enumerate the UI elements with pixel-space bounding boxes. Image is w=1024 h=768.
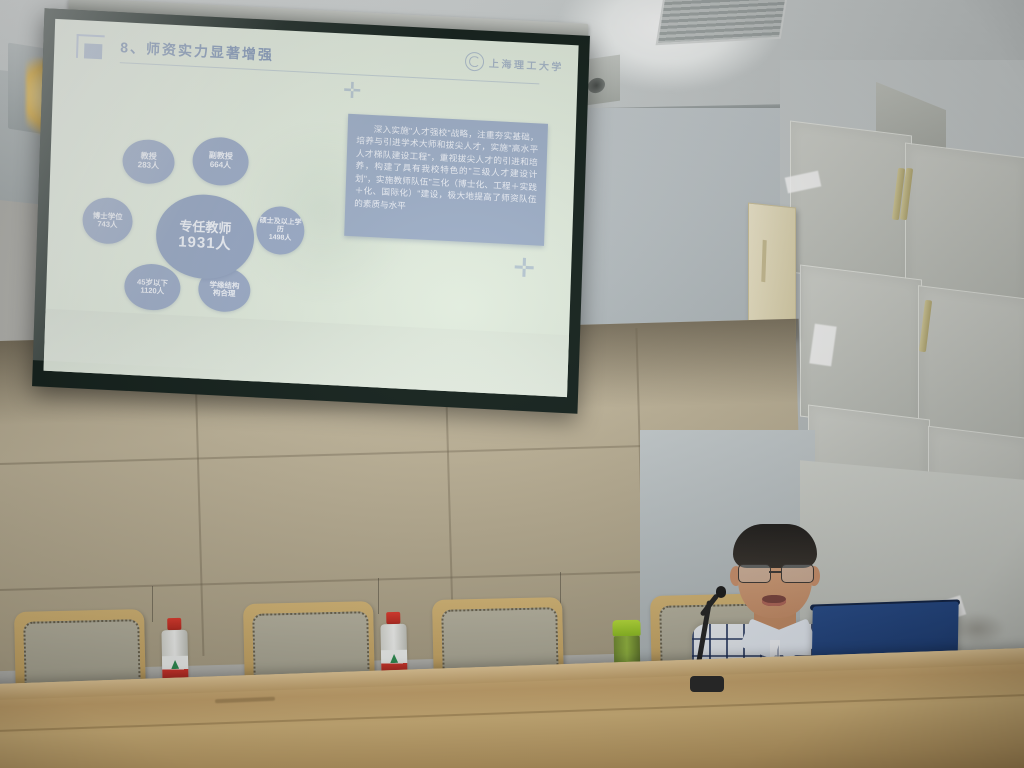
hanging-cord	[560, 572, 561, 606]
hanging-cord	[378, 578, 379, 614]
university-logo: 上海理工大学	[465, 52, 565, 76]
projection-screen: 8、师资实力显著增强 上海理工大学 ✛ ✛ 教授 283人 副教授 664人 硕…	[32, 8, 590, 413]
slide-header-icon	[76, 34, 107, 62]
bubble-value: 743人	[92, 220, 122, 230]
eyeglasses-icon	[734, 564, 816, 581]
bottle-cap	[167, 618, 181, 630]
logo-text: 上海理工大学	[489, 55, 564, 74]
thermos-lid	[612, 620, 640, 636]
wall-sconce	[748, 202, 796, 337]
crop-mark-icon: ✛	[513, 254, 536, 281]
presenter-hair	[733, 524, 817, 568]
microphone-capsule	[716, 586, 726, 598]
bubble-value: 283人	[138, 161, 160, 171]
crop-mark-icon: ✛	[343, 79, 362, 102]
bottle-cap	[386, 612, 400, 624]
hanging-cord	[152, 586, 153, 622]
bubble-value: 构合理	[209, 289, 239, 299]
bubble-professors: 教授 283人	[122, 138, 175, 185]
bubble-under-45: 45岁以下 1120人	[124, 263, 181, 312]
presenter-mouth	[762, 595, 786, 606]
bubble-value: 1498人	[256, 233, 304, 243]
bubble-value: 664人	[208, 161, 232, 171]
acoustic-panel	[905, 143, 1024, 310]
bubble-doctorate: 博士学位 743人	[82, 196, 133, 245]
microphone-base	[690, 676, 724, 692]
ceiling-air-vent	[656, 0, 789, 45]
presentation-slide: 8、师资实力显著增强 上海理工大学 ✛ ✛ 教授 283人 副教授 664人 硕…	[46, 19, 579, 337]
lecture-hall-scene: 8、师资实力显著增强 上海理工大学 ✛ ✛ 教授 283人 副教授 664人 硕…	[0, 0, 1024, 768]
slide-body-text: 深入实施"人才强校"战略，注重夯实基础，培养与引进学术大师和拔尖人才，实施"高水…	[344, 114, 548, 246]
bubble-value: 1120人	[137, 286, 168, 296]
slide-title: 8、师资实力显著增强	[120, 37, 274, 65]
logo-emblem-icon	[465, 52, 485, 72]
center-bubble-value: 1931人	[178, 234, 232, 253]
